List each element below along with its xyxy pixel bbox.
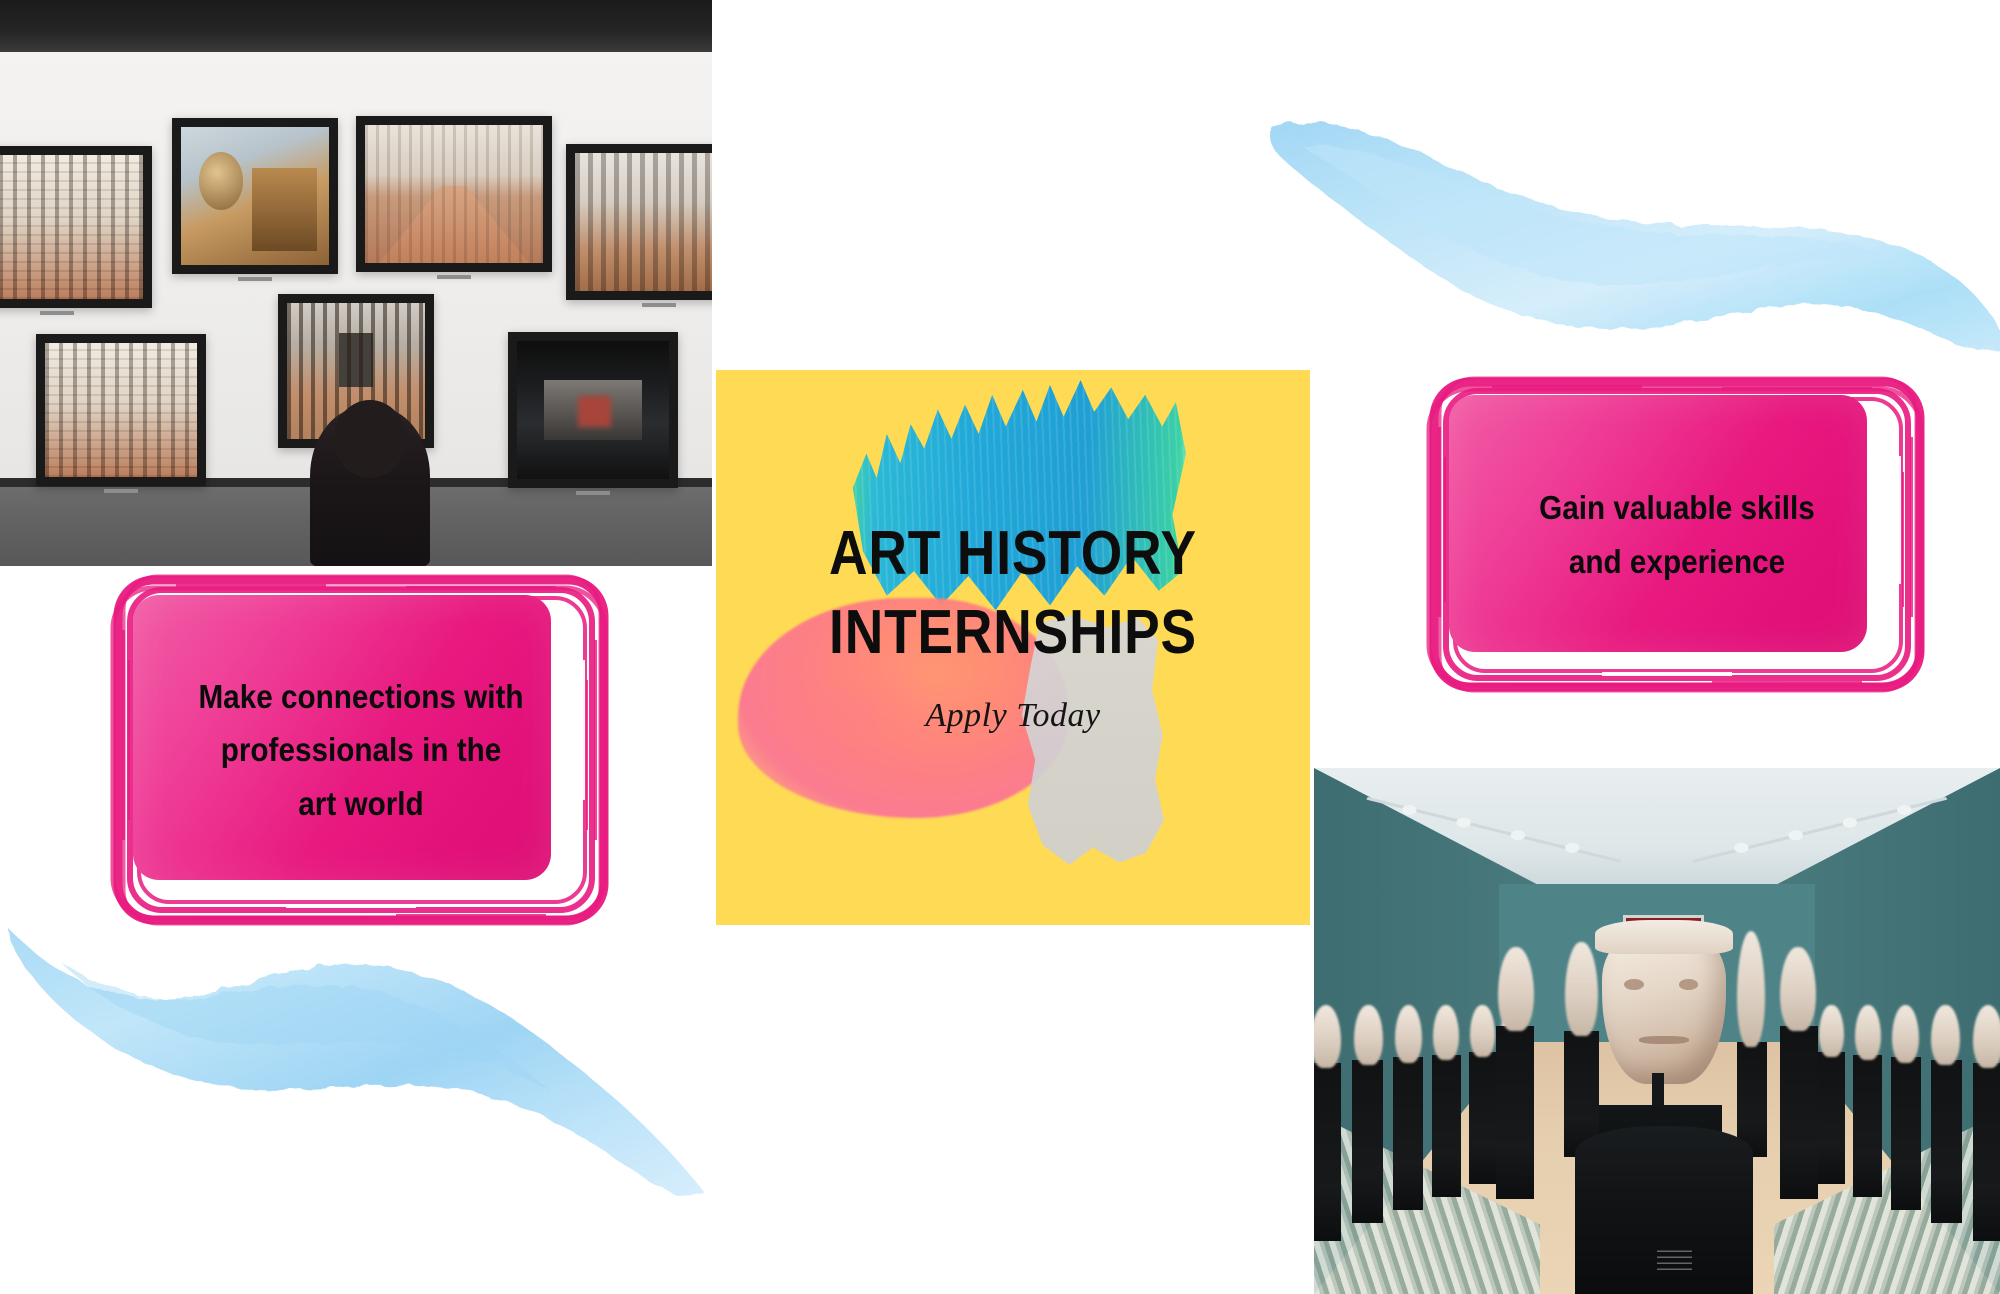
- framed-artwork: [0, 146, 152, 308]
- framed-artwork: [566, 144, 712, 300]
- art-history-internships-poster: ART HISTORY INTERNSHIPS Apply Today: [716, 370, 1310, 925]
- marble-bust: [1892, 1005, 1919, 1063]
- callout-connections: Make connections with professionals in t…: [106, 570, 616, 930]
- marble-bust: [1354, 1005, 1383, 1065]
- plinth: [1891, 1057, 1921, 1210]
- framed-artwork: [356, 116, 552, 272]
- plinth: [1432, 1055, 1461, 1197]
- gallery-ceiling: [0, 0, 712, 52]
- gallery-visitor: [310, 406, 430, 566]
- callout-text: Make connections with professionals in t…: [132, 570, 591, 930]
- callout-skills: Gain valuable skills and experience: [1422, 372, 1932, 697]
- plinth: [1393, 1057, 1423, 1210]
- framed-artwork: [508, 332, 678, 488]
- callout-line: Gain valuable skills: [1539, 481, 1815, 534]
- collage-canvas: ART HISTORY INTERNSHIPS Apply Today: [0, 0, 2000, 1294]
- exhibit-label: [1657, 1250, 1693, 1270]
- watercolor-swoosh-top-right: [1255, 105, 2000, 370]
- marble-bust: [1819, 1005, 1844, 1058]
- plinth: [1496, 1026, 1534, 1200]
- marble-bust: [1565, 942, 1598, 1037]
- poster-title: ART HISTORY INTERNSHIPS: [758, 514, 1269, 673]
- framed-artwork: [172, 118, 338, 274]
- marble-bust: [1855, 1005, 1881, 1060]
- plinth: [1973, 1063, 2000, 1242]
- gallery-wall-photo: [0, 0, 712, 566]
- callout-line: art world: [298, 777, 423, 830]
- plinth: [1314, 1063, 1341, 1242]
- plinth: [1352, 1060, 1384, 1223]
- plinth: [1780, 1026, 1818, 1200]
- callout-line: and experience: [1569, 535, 1785, 588]
- plinth: [1818, 1052, 1845, 1184]
- plinth: [1469, 1052, 1496, 1184]
- marble-bust: [1498, 947, 1534, 1031]
- watercolor-swoosh-bottom-left: [0, 918, 752, 1218]
- poster-title-line-1: ART HISTORY: [758, 514, 1269, 593]
- hero-marble-head: [1602, 926, 1725, 1084]
- track-lighting: [1355, 794, 1959, 878]
- hero-display-drum: [1575, 1126, 1753, 1294]
- callout-text: Gain valuable skills and experience: [1448, 372, 1907, 697]
- framed-artwork: [36, 334, 206, 486]
- callout-line: Make connections with: [198, 670, 523, 723]
- sculpture-hall-photo: [1314, 768, 2000, 1294]
- plinth: [1853, 1055, 1882, 1197]
- plinth: [1931, 1060, 1963, 1223]
- marble-bust: [1973, 1005, 2000, 1068]
- callout-line: professionals in the: [221, 723, 502, 776]
- poster-title-line-2: INTERNSHIPS: [758, 593, 1269, 672]
- poster-subtitle: Apply Today: [716, 697, 1310, 735]
- marble-bust: [1470, 1005, 1495, 1058]
